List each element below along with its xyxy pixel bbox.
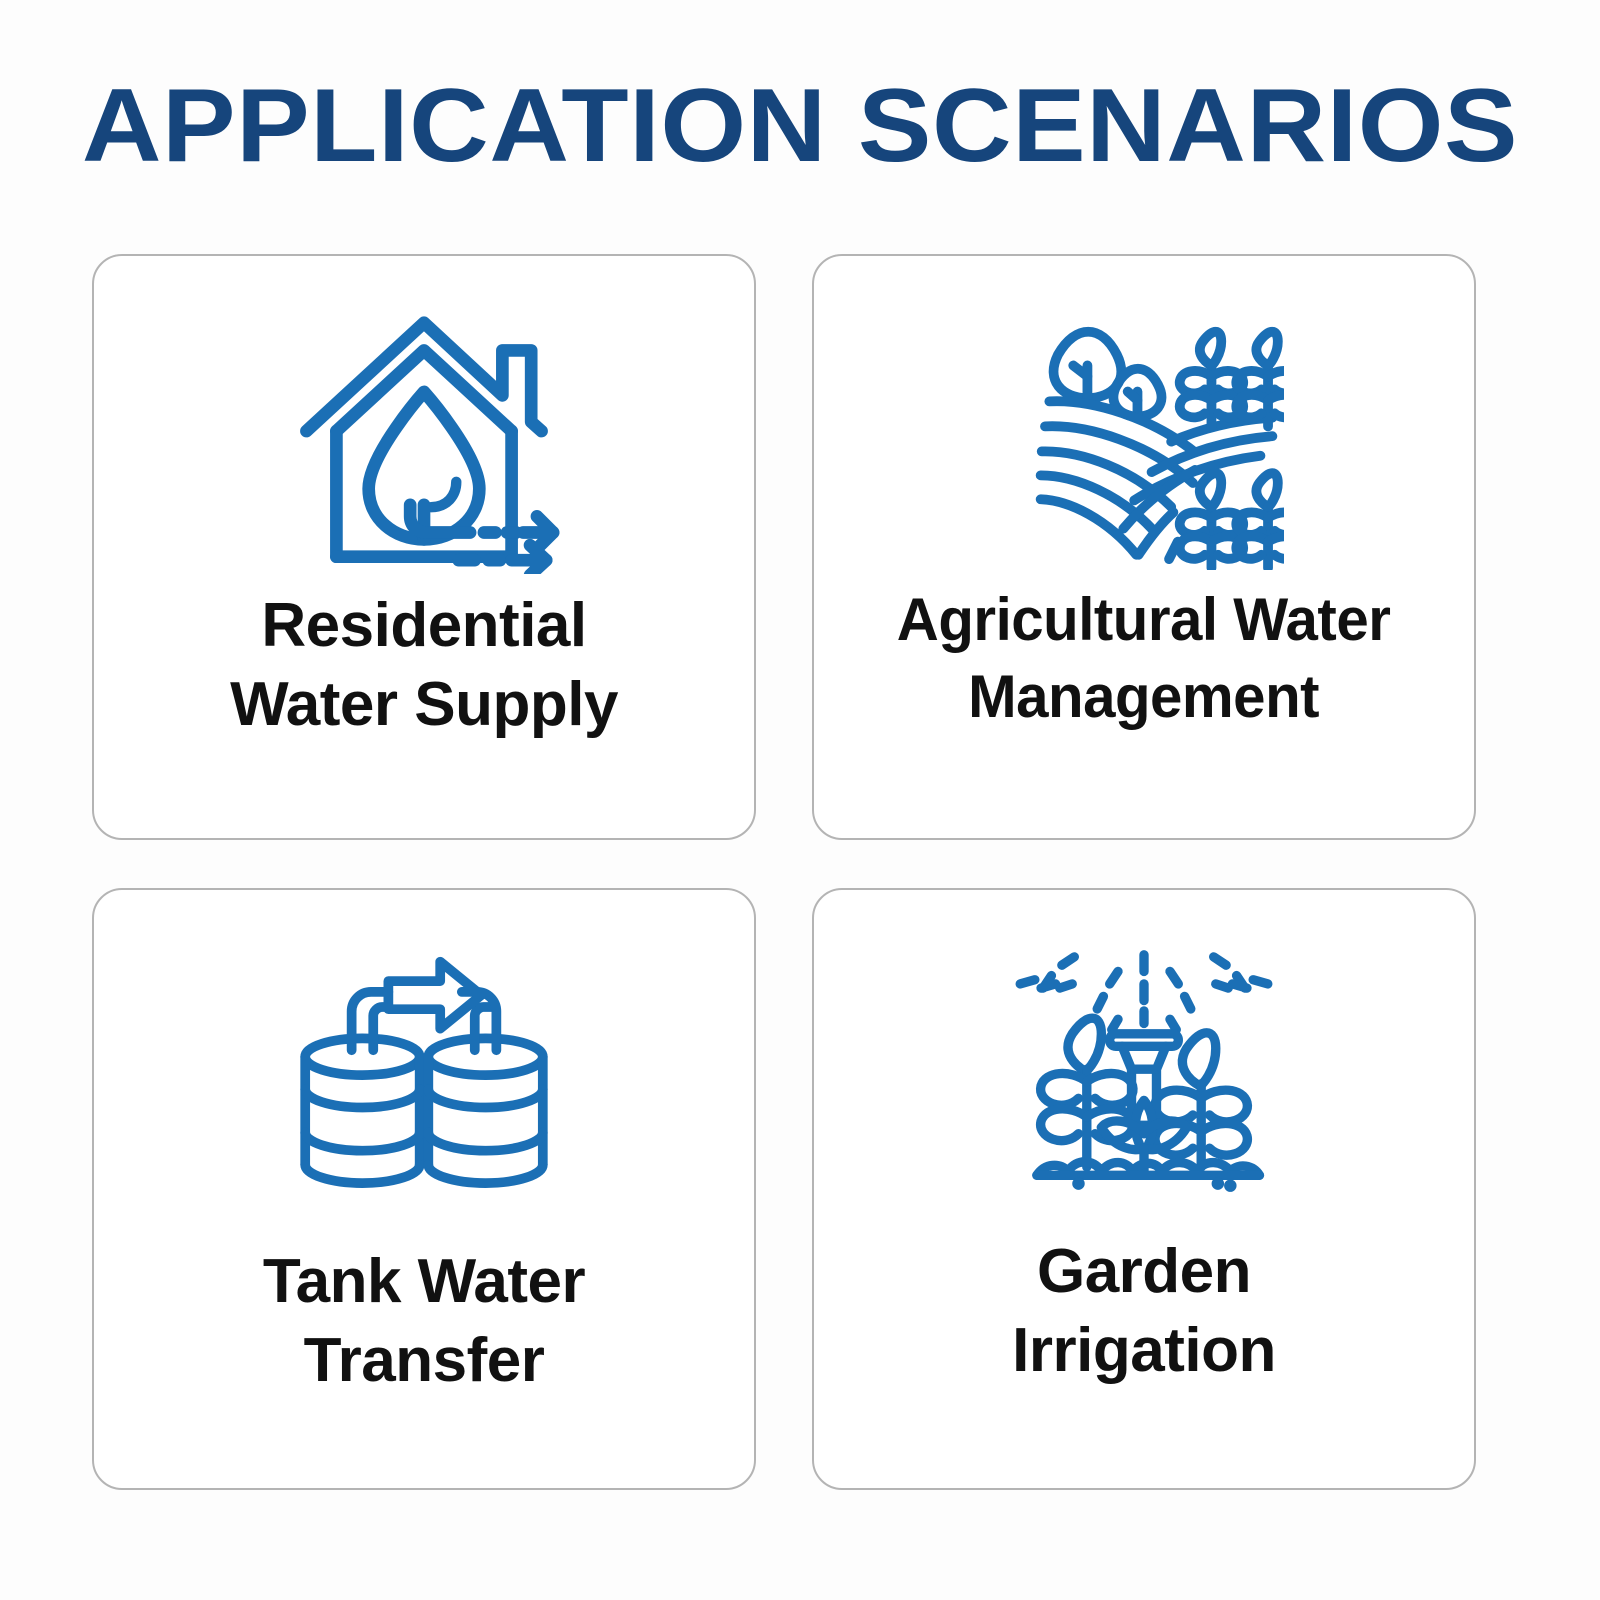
farm-field-wheat-icon — [1004, 298, 1284, 570]
scenario-card-grid: Residential Water Supply — [92, 254, 1508, 1512]
infographic-page: APPLICATION SCENARIOS — [0, 0, 1600, 1600]
house-water-drop-flow-icon — [284, 302, 564, 574]
scenario-card-label: Residential Water Supply — [120, 586, 727, 745]
scenario-card-agricultural-water-management[interactable]: Agricultural Water Management — [812, 254, 1476, 840]
two-tanks-transfer-arrow-icon — [289, 944, 559, 1204]
scenario-card-label: Agricultural Water Management — [850, 582, 1439, 736]
scenario-label-line-2: Management — [969, 663, 1320, 730]
scenario-card-residential-water-supply[interactable]: Residential Water Supply — [92, 254, 756, 840]
page-title: APPLICATION SCENARIOS — [0, 72, 1600, 181]
scenario-card-label: Tank Water Transfer — [120, 1242, 727, 1401]
scenario-card-garden-irrigation[interactable]: Garden Irrigation — [812, 888, 1476, 1490]
sprinkler-plants-irrigation-icon — [1009, 934, 1279, 1194]
scenario-label-line-1: Residential — [261, 591, 586, 660]
scenario-label-line-1: Agricultural Water — [897, 586, 1391, 653]
scenario-card-label: Garden Irrigation — [840, 1232, 1447, 1391]
scenario-label-line-2: Irrigation — [1012, 1316, 1276, 1385]
scenario-label-line-1: Tank Water — [263, 1247, 585, 1316]
scenario-label-line-2: Water Supply — [230, 670, 618, 739]
scenario-label-line-1: Garden — [1037, 1237, 1251, 1306]
scenario-label-line-2: Transfer — [304, 1326, 545, 1395]
scenario-card-tank-water-transfer[interactable]: Tank Water Transfer — [92, 888, 756, 1490]
